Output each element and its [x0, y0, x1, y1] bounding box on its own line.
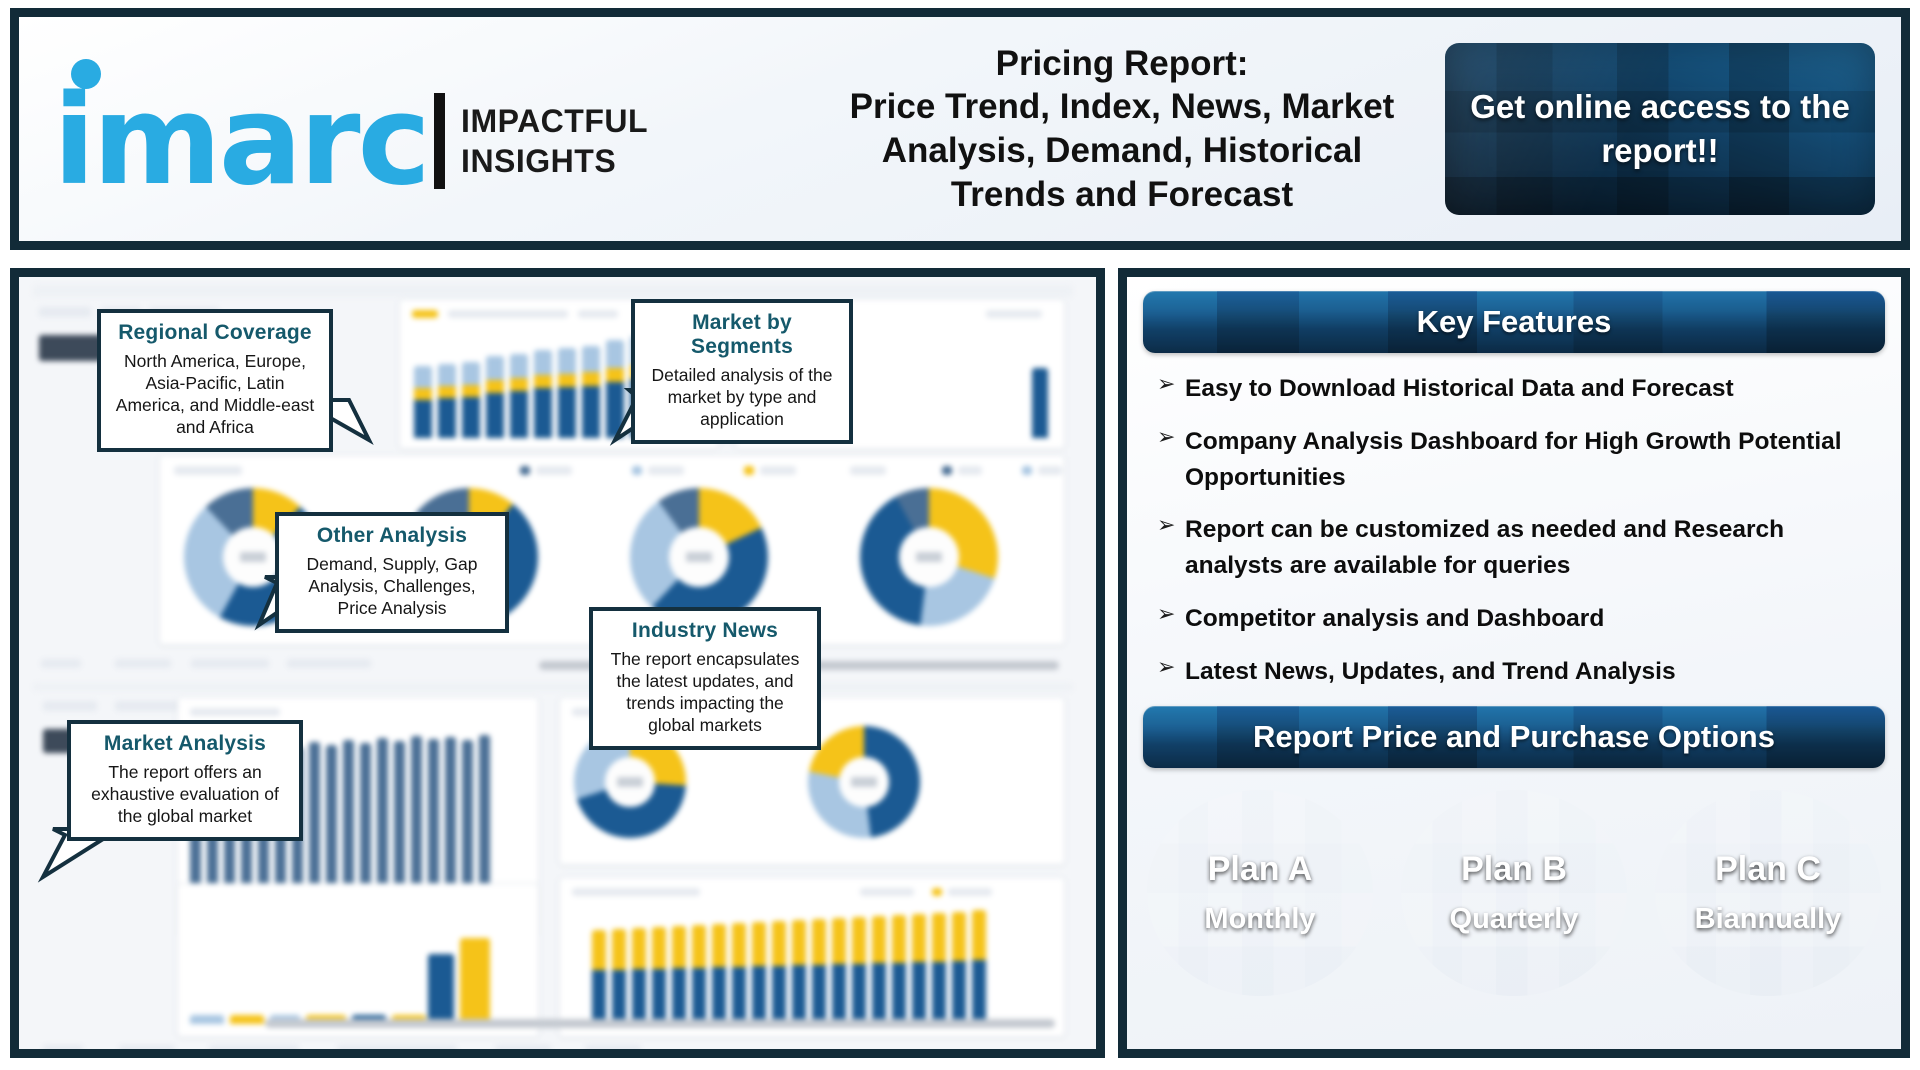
callout-title: Other Analysis	[291, 524, 493, 548]
logo-divider	[434, 93, 445, 189]
imarc-logo: imarc IMPACTFUL INSIGHTS	[19, 17, 799, 241]
callout-regional-coverage: Regional Coverage North America, Europe,…	[97, 309, 333, 452]
logo-tagline-line2: INSIGHTS	[461, 141, 648, 181]
callout-body: The report encapsulates the latest updat…	[605, 648, 805, 736]
list-item: ➢ Latest News, Updates, and Trend Analys…	[1151, 654, 1879, 690]
feature-text: Competitor analysis and Dashboard	[1185, 601, 1604, 637]
feature-text: Latest News, Updates, and Trend Analysis	[1185, 654, 1676, 690]
page-title-line3: Analysis, Demand, Historical	[809, 129, 1435, 173]
feature-text: Report can be customized as needed and R…	[1185, 512, 1879, 584]
list-item: ➢ Company Analysis Dashboard for High Gr…	[1151, 424, 1879, 496]
plan-name: Plan A	[1208, 850, 1313, 889]
callout-body: The report offers an exhaustive evaluati…	[83, 761, 287, 827]
callout-body: Detailed analysis of the market by type …	[647, 364, 837, 430]
logo-wordmark: imarc	[53, 89, 428, 194]
dashboard-preview-panel: Regional Coverage North America, Europe,…	[10, 268, 1105, 1058]
page-title-line4: Trends and Forecast	[809, 173, 1435, 217]
feature-text: Company Analysis Dashboard for High Grow…	[1185, 424, 1879, 496]
callout-other-analysis: Other Analysis Demand, Supply, Gap Analy…	[275, 512, 509, 633]
pricing-header: Report Price and Purchase Options	[1143, 706, 1885, 768]
logo-tagline-line1: IMPACTFUL	[461, 101, 648, 141]
plan-cycle: Quarterly	[1450, 903, 1579, 936]
list-item: ➢ Report can be customized as needed and…	[1151, 512, 1879, 584]
plan-name: Plan C	[1715, 850, 1821, 889]
pricing-report-infographic: imarc IMPACTFUL INSIGHTS Pricing Report:…	[0, 0, 1920, 1070]
header-bar: imarc IMPACTFUL INSIGHTS Pricing Report:…	[10, 8, 1910, 250]
get-online-access-label: Get online access to the report!!	[1445, 85, 1875, 172]
callout-body: North America, Europe, Asia-Pacific, Lat…	[113, 350, 317, 438]
arrow-bullet-icon: ➢	[1151, 601, 1185, 628]
key-features-heading: Key Features	[1417, 304, 1612, 340]
get-online-access-button[interactable]: Get online access to the report!!	[1445, 43, 1875, 215]
callout-title: Industry News	[605, 619, 805, 643]
callout-market-analysis: Market Analysis The report offers an exh…	[67, 720, 303, 841]
plan-options: Plan A Monthly Plan B Quarterly Plan C B…	[1143, 790, 1885, 996]
key-features-header: Key Features	[1143, 291, 1885, 353]
arrow-bullet-icon: ➢	[1151, 654, 1185, 681]
page-title-line1: Pricing Report:	[809, 42, 1435, 86]
list-item: ➢ Easy to Download Historical Data and F…	[1151, 371, 1879, 407]
page-title: Pricing Report: Price Trend, Index, News…	[799, 42, 1445, 217]
callout-market-by-segments: Market by Segments Detailed analysis of …	[631, 299, 853, 444]
callout-title: Market by Segments	[647, 311, 837, 359]
plan-name: Plan B	[1461, 850, 1567, 889]
arrow-bullet-icon: ➢	[1151, 371, 1185, 398]
plan-cycle: Biannually	[1695, 903, 1842, 936]
feature-text: Easy to Download Historical Data and For…	[1185, 371, 1734, 407]
plan-cycle: Monthly	[1204, 903, 1315, 936]
features-and-pricing-panel: Key Features ➢ Easy to Download Historic…	[1118, 268, 1910, 1058]
plan-option-a[interactable]: Plan A Monthly	[1147, 790, 1373, 996]
callout-title: Regional Coverage	[113, 321, 317, 345]
list-item: ➢ Competitor analysis and Dashboard	[1151, 601, 1879, 637]
pricing-heading: Report Price and Purchase Options	[1253, 719, 1775, 755]
page-title-line2: Price Trend, Index, News, Market	[809, 85, 1435, 129]
logo-dot-icon	[71, 59, 101, 89]
arrow-bullet-icon: ➢	[1151, 512, 1185, 539]
callout-title: Market Analysis	[83, 732, 287, 756]
callout-industry-news: Industry News The report encapsulates th…	[589, 607, 821, 750]
callout-body: Demand, Supply, Gap Analysis, Challenges…	[291, 553, 493, 619]
plan-option-b[interactable]: Plan B Quarterly	[1401, 790, 1627, 996]
logo-tagline: IMPACTFUL INSIGHTS	[461, 101, 648, 181]
plan-option-c[interactable]: Plan C Biannually	[1655, 790, 1881, 996]
key-features-list: ➢ Easy to Download Historical Data and F…	[1151, 371, 1879, 689]
arrow-bullet-icon: ➢	[1151, 424, 1185, 451]
